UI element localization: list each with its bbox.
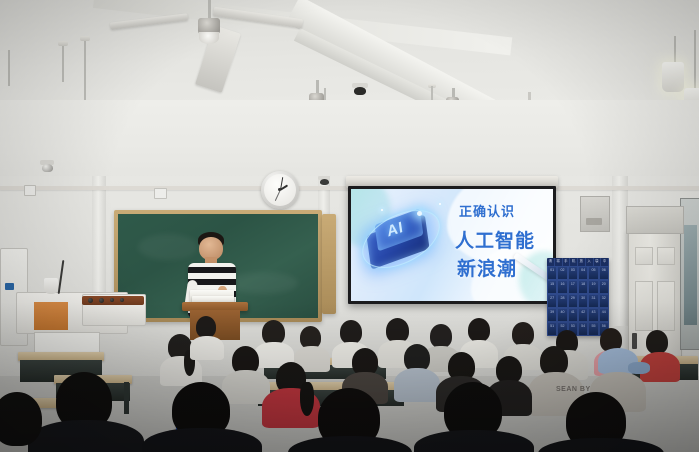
phone-pocket[interactable]: 39 [547, 308, 557, 322]
upper-wall [0, 100, 699, 186]
wall-switch[interactable] [154, 188, 167, 199]
student-head [512, 322, 534, 346]
phone-pocket[interactable]: 06 [599, 266, 609, 280]
wall-vent [580, 196, 610, 232]
phone-pocket[interactable]: 43 [588, 308, 598, 322]
pocket-row: 39 40 41 42 43 44 [547, 308, 609, 322]
student-head [430, 324, 452, 348]
door-transom [626, 206, 684, 234]
console-wood-panel [34, 302, 68, 330]
phone-pocket[interactable]: 54 [578, 322, 588, 336]
phone-pocket[interactable]: 55 [588, 322, 598, 336]
pocket-header-char: 放 [578, 258, 586, 266]
door-panel [635, 281, 653, 331]
student-head [468, 318, 490, 342]
projection-screen: AI 正确认识 人工智能 新浪潮 [348, 186, 556, 304]
door-panel [635, 247, 653, 265]
phone-pocket[interactable]: 01 [547, 266, 557, 280]
console-knob[interactable] [110, 298, 114, 302]
wall-switch[interactable] [24, 185, 36, 196]
window-pane [684, 225, 697, 325]
clock-face [264, 174, 296, 206]
chalkboard-frame-right [322, 214, 336, 314]
pocket-header-char: 入 [586, 258, 594, 266]
student-body-front [28, 420, 144, 452]
phone-pocket[interactable]: 32 [599, 294, 609, 308]
pocket-row: 01 02 03 04 05 06 [547, 266, 609, 280]
phone-pocket[interactable]: 31 [588, 294, 598, 308]
phone-pocket[interactable]: 05 [588, 266, 598, 280]
phone-pocket[interactable]: 20 [599, 280, 609, 294]
student-head [646, 330, 668, 354]
slide-heading-line-2: 人工智能 [455, 231, 535, 252]
phone-pocket[interactable]: 18 [578, 280, 588, 294]
desk-leg [124, 382, 129, 414]
clock-center [278, 188, 281, 191]
pocket-header-char: 手 [563, 258, 571, 266]
phone-pocket[interactable]: 41 [568, 308, 578, 322]
phone-pocket[interactable]: 16 [557, 280, 567, 294]
student-body-front [414, 430, 534, 452]
phone-storage-board[interactable]: 请 将 手 机 放 入 袋 中 01 02 03 04 05 06 15 16 … [547, 258, 609, 336]
student-body-front [288, 436, 412, 452]
wall-clock [261, 171, 299, 209]
pocket-header-char: 机 [570, 258, 578, 266]
console-knob[interactable] [120, 298, 124, 302]
phone-pocket[interactable]: 03 [568, 266, 578, 280]
pocket-row: 15 16 17 18 19 20 [547, 280, 609, 294]
phone-pocket[interactable]: 02 [557, 266, 567, 280]
console-knob[interactable] [99, 298, 104, 303]
classroom-photo: AI 正确认识 人工智能 新浪潮 请 将 手 机 放 入 袋 中 01 [0, 0, 699, 452]
phone-pocket[interactable]: 42 [578, 308, 588, 322]
slide-heading-line-3: 新浪潮 [457, 259, 517, 280]
pocket-header-char: 将 [555, 258, 563, 266]
phone-pocket[interactable]: 15 [547, 280, 557, 294]
pocket-header-char: 袋 [594, 258, 602, 266]
student-head [340, 320, 362, 344]
slide-heading-line-1: 正确认识 [459, 206, 515, 220]
console-knob[interactable] [88, 298, 93, 303]
pocket-header-char: 中 [601, 258, 609, 266]
pocket-board-header: 请 将 手 机 放 入 袋 中 [547, 258, 609, 266]
door-panel [657, 281, 675, 331]
ac-display [5, 283, 14, 290]
student-body-front [142, 428, 262, 452]
phone-pocket[interactable]: 19 [588, 280, 598, 294]
student-body [190, 336, 224, 360]
clock-second-hand [275, 190, 281, 201]
door-panel [657, 247, 675, 265]
presentation-slide: AI 正确认识 人工智能 新浪潮 [351, 189, 553, 301]
phone-pocket[interactable]: 28 [557, 294, 567, 308]
phone-pocket[interactable]: 29 [568, 294, 578, 308]
student-body [394, 368, 440, 402]
vent-slot [586, 218, 602, 225]
cup [44, 278, 58, 294]
phone-pocket[interactable]: 44 [599, 308, 609, 322]
student-ponytail [300, 382, 314, 416]
phone-pocket[interactable]: 51 [547, 322, 557, 336]
cap-brim [628, 362, 650, 374]
student-head [196, 316, 216, 338]
pocket-header-char: 请 [547, 258, 555, 266]
student-head-front [0, 392, 42, 446]
student-body-front [538, 438, 664, 452]
phone-pocket[interactable]: 30 [578, 294, 588, 308]
pocket-row: 51 52 53 54 55 56 [547, 322, 609, 336]
door-handle[interactable] [632, 333, 637, 349]
phone-pocket[interactable]: 04 [578, 266, 588, 280]
phone-pocket[interactable]: 17 [568, 280, 578, 294]
phone-pocket[interactable]: 27 [547, 294, 557, 308]
phone-pocket[interactable]: 40 [557, 308, 567, 322]
pocket-row: 27 28 29 30 31 32 [547, 294, 609, 308]
wall-pilaster [612, 176, 628, 326]
